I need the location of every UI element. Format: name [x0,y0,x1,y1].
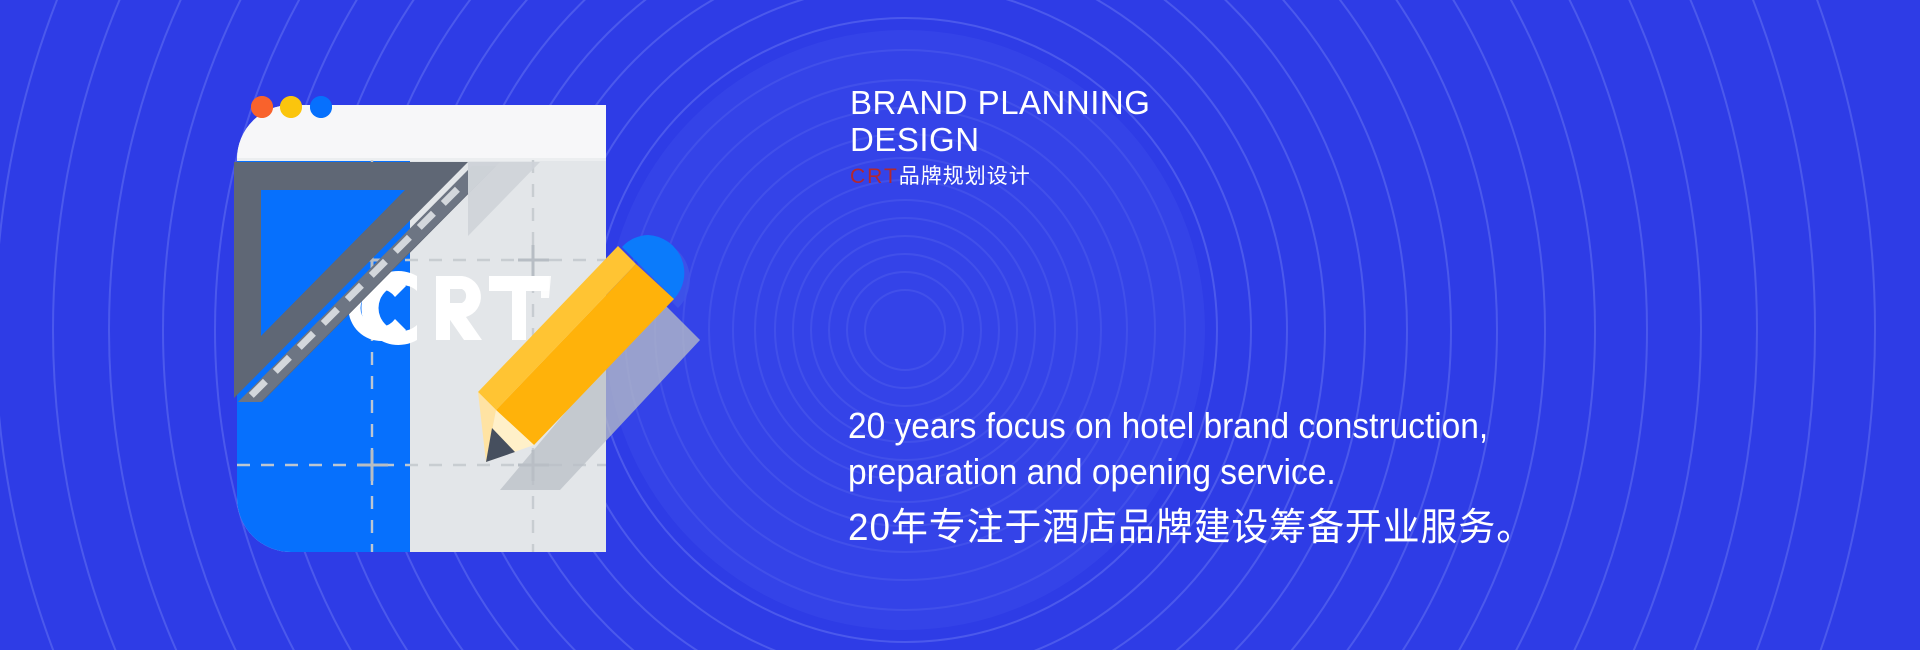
paper-guide-grid [237,160,606,552]
close-dot [251,96,273,118]
window-control-dots-row [251,96,332,118]
headline-block: BRAND PLANNING DESIGN CRT品牌规划设计 [850,84,1550,190]
pencil-shadow [500,300,700,490]
tagline-chinese: 20年专注于酒店品牌建设筹备开业服务。 [848,505,1721,551]
maximize-dot [310,96,332,118]
minimize-dot [280,96,302,118]
triangle-ruler [234,162,606,414]
headline-chinese: CRT品牌规划设计 [850,164,1550,190]
paper-guide-crosshairs [357,245,549,481]
headline-chinese-text: 品牌规划设计 [899,165,1031,188]
pencil [478,235,690,462]
paper-crt-logo [348,271,551,345]
tagline-english: 20 years focus on hotel brand constructi… [848,403,1685,495]
brand-mark-crt: CRT [850,165,899,188]
window-control-dots [251,96,332,118]
headline-english: BRAND PLANNING DESIGN [850,84,1550,158]
browser-window-card [237,105,606,552]
tagline-block: 20 years focus on hotel brand constructi… [848,403,1748,551]
hero-banner: BRAND PLANNING DESIGN CRT品牌规划设计 20 years… [0,0,1920,650]
